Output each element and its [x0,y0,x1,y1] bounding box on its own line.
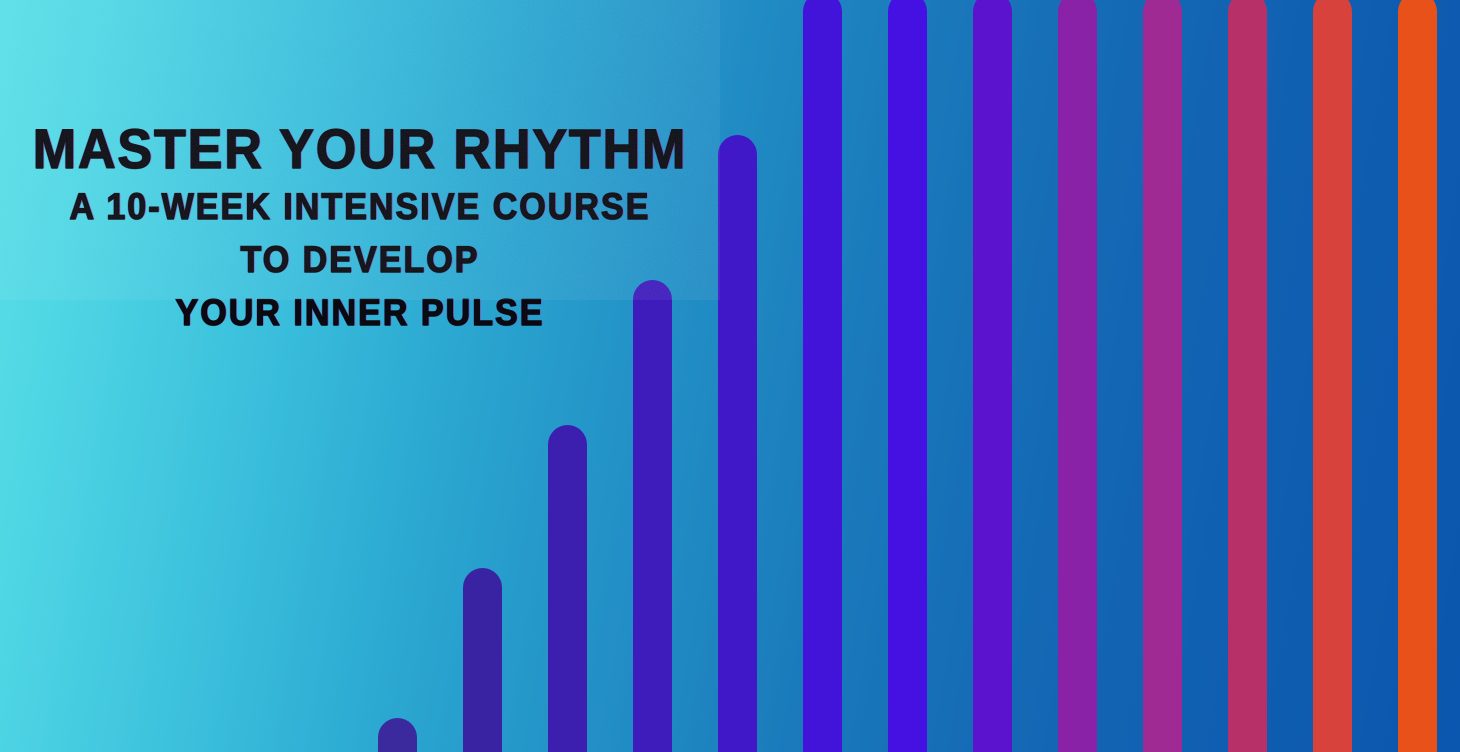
bar-12 [1313,0,1352,752]
bar-11 [1228,0,1267,752]
bar-2 [463,568,502,752]
bar-4 [633,280,672,752]
bar-9 [1058,0,1097,752]
bar-3 [548,425,587,752]
bar-8 [973,0,1012,752]
bar-7 [888,0,927,752]
bar-10 [1143,0,1182,752]
bar-6 [803,0,842,752]
bar-chart [0,0,1460,752]
bar-13 [1398,0,1437,752]
poster-canvas: MASTER YOUR RHYTHM A 10-WEEK INTENSIVE C… [0,0,1460,752]
bar-5 [718,135,757,752]
bar-1 [378,718,417,752]
